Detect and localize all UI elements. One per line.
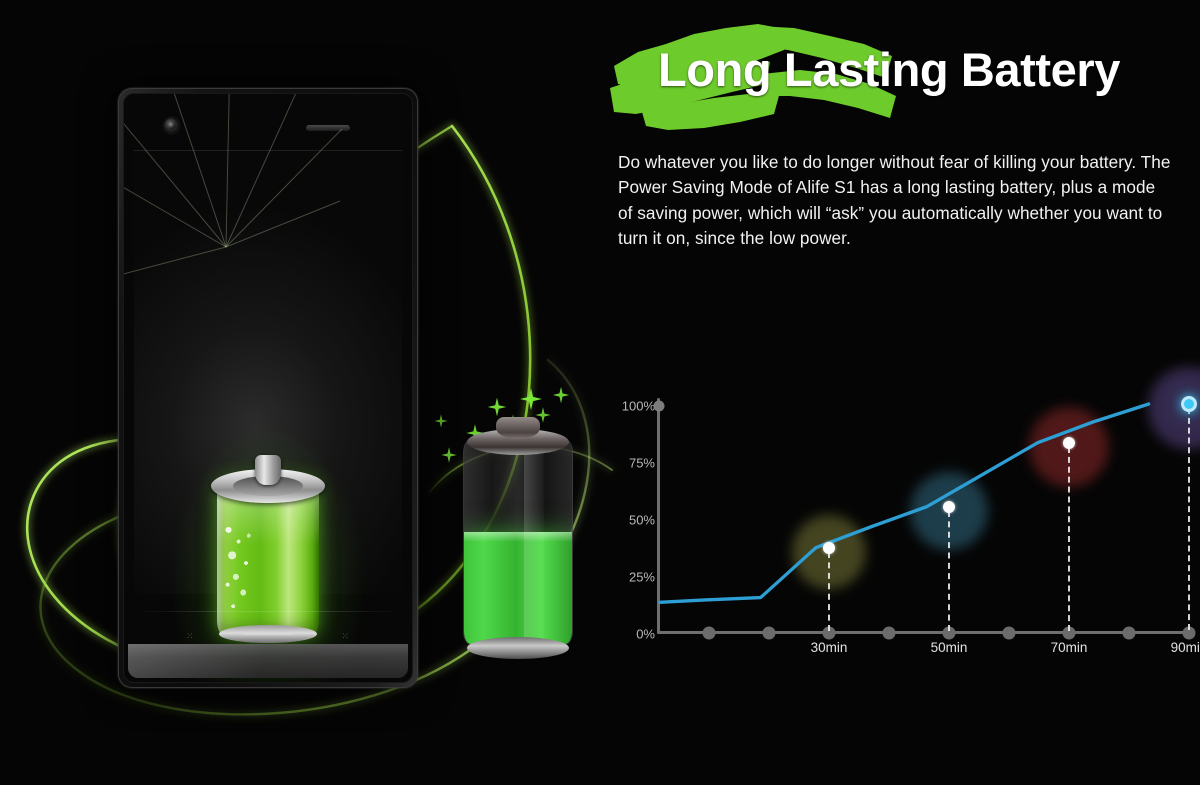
y-tick-label: 25%	[629, 570, 655, 585]
earpiece-speaker-icon	[306, 125, 350, 131]
drop-line-90min	[1188, 408, 1190, 630]
data-point-70min[interactable]	[1063, 437, 1075, 449]
y-tick-label: 50%	[629, 513, 655, 528]
smartphone-device: ⁙ ⁙	[118, 88, 418, 688]
drop-line-50min	[948, 511, 950, 631]
front-camera-icon	[164, 118, 179, 133]
data-point-50min[interactable]	[943, 501, 955, 513]
drop-line-30min	[828, 552, 830, 631]
x-tick-label-90min: 90min	[1171, 640, 1200, 655]
battery-charge-chart: 100% 75% 50% 25% 0%	[613, 390, 1195, 680]
softkey-right-icon[interactable]: ⁙	[341, 631, 350, 642]
softkey-left-icon[interactable]: ⁙	[186, 631, 195, 642]
x-tick-label-30min: 30min	[811, 640, 848, 655]
x-tick-label-70min: 70min	[1051, 640, 1088, 655]
light-rays	[123, 93, 344, 281]
x-tick-label-50min: 50min	[931, 640, 968, 655]
device-illustration-area: ⁙ ⁙	[0, 0, 620, 785]
battery-terminal	[255, 455, 281, 485]
glass-battery-icon	[455, 415, 581, 665]
y-tick-label: 100%	[622, 399, 655, 414]
content-panel: Long Lasting Battery Do whatever you lik…	[608, 0, 1200, 785]
data-point-90min[interactable]	[1181, 396, 1197, 412]
page-title: Long Lasting Battery	[658, 46, 1120, 93]
drop-line-70min	[1068, 447, 1070, 631]
home-button-bar[interactable]	[243, 633, 293, 635]
description-paragraph: Do whatever you like to do longer withou…	[618, 150, 1174, 251]
glass-battery-fill	[464, 532, 572, 644]
glass-battery-body	[463, 439, 573, 645]
phone-screen	[134, 150, 402, 594]
y-axis-labels: 100% 75% 50% 25% 0%	[613, 390, 655, 634]
screen-divider	[136, 611, 400, 612]
phone-bezel: ⁙ ⁙	[123, 93, 413, 683]
battery-full-green-icon	[209, 451, 327, 643]
promo-page: ⁙ ⁙	[0, 0, 1200, 785]
chart-line	[657, 390, 1195, 634]
phone-bottom-bezel	[128, 644, 408, 678]
chart-plot-area	[657, 390, 1195, 634]
data-point-30min[interactable]	[823, 542, 835, 554]
glass-battery-base	[467, 637, 569, 659]
glass-battery-terminal	[496, 417, 540, 439]
y-tick-label: 75%	[629, 456, 655, 471]
y-tick-label: 0%	[636, 627, 655, 642]
battery-bubbles	[223, 520, 269, 618]
glass-highlight	[524, 440, 543, 644]
